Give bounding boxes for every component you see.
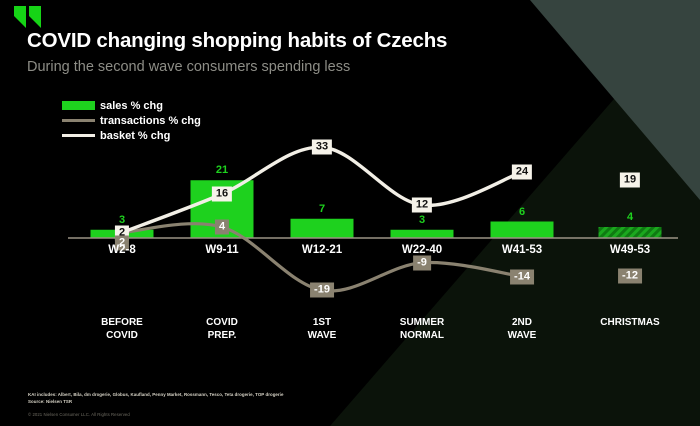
bar-W41-53: [491, 222, 554, 239]
legend-label-sales: sales % chg: [100, 100, 163, 112]
phase-label-1: COVID PREP.: [206, 316, 238, 342]
legend-swatch-transactions-icon: [62, 116, 95, 126]
x-tick-W9-11: W9-11: [205, 244, 238, 256]
footnote-line-2: Source: Nielsen TSR: [28, 399, 283, 406]
bar-value-W41-53: 6: [519, 206, 525, 218]
phase-label-3: SUMMER NORMAL: [400, 316, 444, 342]
bar-W22-40: [391, 230, 454, 238]
legend-item-basket: basket % chg: [62, 128, 201, 143]
x-tick-W12-21: W12-21: [302, 244, 342, 256]
basket-value-W41-53: 24: [512, 165, 532, 180]
legend-item-transactions: transactions % chg: [62, 113, 201, 128]
chart-legend: sales % chg transactions % chg basket % …: [62, 98, 201, 143]
transactions-value-W41-53: -14: [510, 269, 534, 284]
basket-value-W9-11: 16: [212, 187, 232, 202]
transactions-value-W49-53: -12: [618, 269, 642, 284]
x-tick-W2-8: W2-8: [108, 244, 135, 256]
basket-value-W49-53: 19: [620, 172, 640, 187]
bar-value-W9-11: 21: [216, 164, 228, 176]
bar-value-W49-53: 4: [627, 211, 633, 223]
legend-label-transactions: transactions % chg: [100, 115, 201, 127]
bars-layer: [91, 180, 662, 238]
legend-swatch-sales-icon: [62, 101, 95, 111]
basket-value-W22-40: 12: [412, 198, 432, 213]
legend-label-basket: basket % chg: [100, 130, 170, 142]
line-basket: [122, 147, 522, 232]
phase-label-4: 2ND WAVE: [508, 316, 537, 342]
x-tick-W41-53: W41-53: [502, 244, 542, 256]
slide-root: COVID changing shopping habits of Czechs…: [0, 0, 700, 426]
page-title: COVID changing shopping habits of Czechs: [27, 29, 447, 53]
legend-item-sales: sales % chg: [62, 98, 201, 113]
page-subtitle: During the second wave consumers spendin…: [27, 59, 350, 75]
copyright-text: © 2021 Nielsen Consumer LLC. All Rights …: [28, 412, 130, 417]
footnote: KAI includes: Albert, Bila, dm drogerie,…: [28, 392, 283, 405]
legend-swatch-basket-icon: [62, 131, 95, 141]
footnote-line-1: KAI includes: Albert, Bila, dm drogerie,…: [28, 392, 283, 399]
line-transactions: [122, 224, 522, 291]
bar-W12-21: [291, 219, 354, 238]
bar-value-W12-21: 7: [319, 203, 325, 215]
phase-label-2: 1ST WAVE: [308, 316, 337, 342]
transactions-value-W9-11: 4: [215, 220, 229, 235]
basket-value-W12-21: 33: [312, 140, 332, 155]
bar-value-W22-40: 3: [419, 214, 425, 226]
x-tick-W49-53: W49-53: [610, 244, 650, 256]
bar-value-W2-8: 3: [119, 214, 125, 226]
x-tick-W22-40: W22-40: [402, 244, 442, 256]
phase-label-0: BEFORE COVID: [101, 316, 143, 342]
transactions-value-W12-21: -19: [310, 283, 334, 298]
bar-W49-53: [599, 227, 662, 238]
phase-label-5: CHRISTMAS: [600, 316, 659, 329]
transactions-value-W22-40: -9: [413, 255, 431, 270]
lines-layer: [122, 147, 522, 291]
